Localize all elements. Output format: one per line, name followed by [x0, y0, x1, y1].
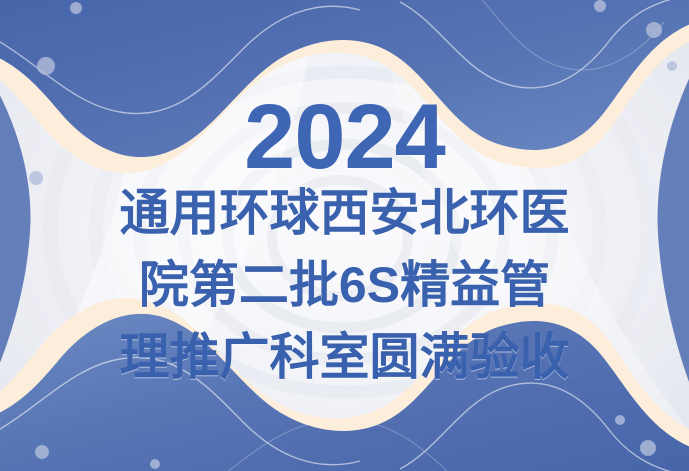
poster-canvas: 2024 通用环球西安北环医 院第二批6S精益管 理推广科室圆满验收	[0, 0, 689, 471]
decorative-background	[0, 0, 689, 471]
